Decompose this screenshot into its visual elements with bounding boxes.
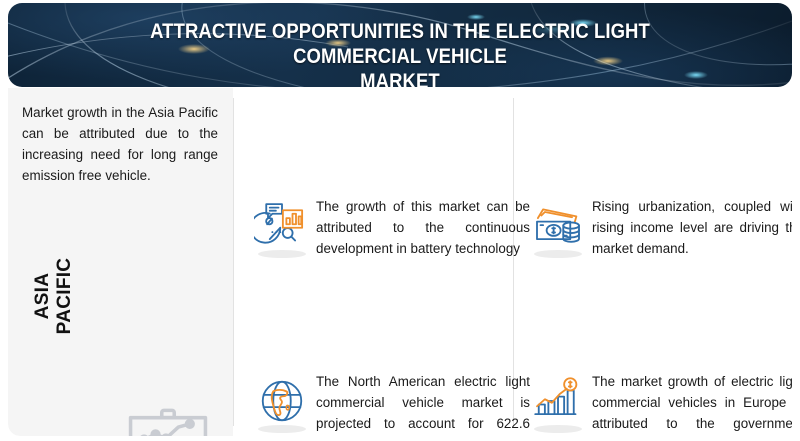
globe-icon xyxy=(254,373,310,429)
insight-text: Rising urbanization, coupled with rising… xyxy=(592,196,792,259)
page-title: ATTRACTIVE OPPORTUNITIES IN THE ELECTRIC… xyxy=(63,19,737,87)
pie-chart-analytics-icon xyxy=(254,198,310,254)
presentation-chart-search-icon xyxy=(116,400,220,436)
bar-chart-growth-dollar-icon xyxy=(530,373,586,429)
left-region-panel: Market growth in the Asia Pacific can be… xyxy=(8,88,233,436)
insight-text: The North American electric light commer… xyxy=(316,371,530,436)
money-cash-coins-icon xyxy=(530,198,586,254)
column-divider-1 xyxy=(233,98,234,426)
insight-text: The market growth of electric light comm… xyxy=(592,371,792,436)
left-panel-text: Market growth in the Asia Pacific can be… xyxy=(22,102,218,186)
header-banner: ATTRACTIVE OPPORTUNITIES IN THE ELECTRIC… xyxy=(8,3,792,87)
insight-text: The growth of this market can be attribu… xyxy=(316,196,530,259)
region-label: ASIA PACIFIC xyxy=(32,236,76,356)
infographic-root: ATTRACTIVE OPPORTUNITIES IN THE ELECTRIC… xyxy=(0,0,800,441)
content-card: Market growth in the Asia Pacific can be… xyxy=(8,88,792,436)
